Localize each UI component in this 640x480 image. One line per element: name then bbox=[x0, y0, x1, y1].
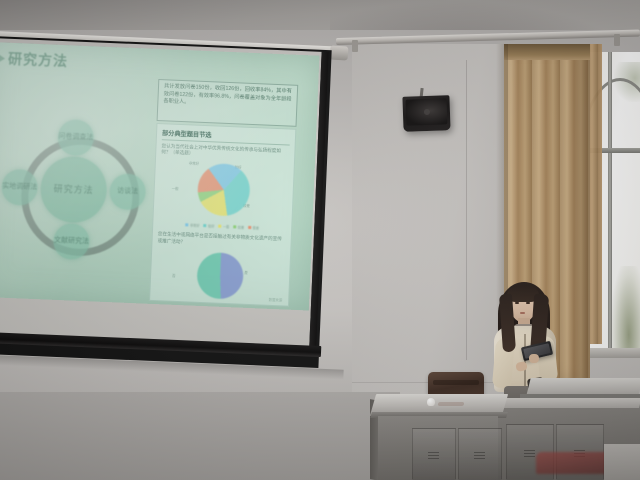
legend-label: 较差 bbox=[238, 225, 245, 230]
legend-label: 很差 bbox=[252, 225, 259, 230]
desk-items bbox=[438, 402, 465, 406]
projected-slide: 研究方法 研究方法 问卷调查法 访谈法 文献研究法 实地调研法 共计发放问卷15… bbox=[0, 42, 319, 311]
legend-item: 较好 bbox=[203, 223, 214, 228]
pie-chart-1 bbox=[197, 163, 251, 217]
research-method-circle-diagram: 研究方法 问卷调查法 访谈法 文献研究法 实地调研法 bbox=[5, 121, 142, 258]
legend-item: 很差 bbox=[248, 225, 259, 230]
legend-label: 一般 bbox=[223, 224, 230, 229]
curtain-rail-bracket bbox=[352, 40, 358, 52]
diagram-node-right: 访谈法 bbox=[109, 173, 146, 210]
slide-title: 研究方法 bbox=[0, 48, 68, 71]
legend-item: 非常好 bbox=[185, 223, 199, 229]
legend-label: 较好 bbox=[208, 224, 215, 229]
window-foliage bbox=[612, 266, 640, 352]
window-sill bbox=[584, 348, 640, 358]
pie2-label-b: 是 bbox=[244, 270, 248, 275]
questions-card-heading: 部分典型题目节选 bbox=[162, 128, 290, 145]
window-vertical-mullion bbox=[608, 52, 612, 352]
legend-item: 一般 bbox=[218, 224, 229, 229]
wall-seam bbox=[466, 60, 467, 360]
eye-left bbox=[515, 302, 519, 304]
survey-stats-textbox: 共计发放问卷150份，收回126份，回收率84%，其中有效问卷122份，有效率9… bbox=[157, 79, 299, 127]
legend-label: 非常好 bbox=[190, 223, 200, 228]
pie1-label-a: 非常好 bbox=[189, 161, 199, 166]
pie-chart-1-block: 非常好 较好 一般 较差 非常好 较好 bbox=[158, 156, 289, 232]
cabinet-vent bbox=[474, 452, 485, 459]
wall-speaker-icon bbox=[402, 95, 450, 132]
cup[interactable] bbox=[427, 398, 435, 406]
curtain-header bbox=[504, 44, 590, 60]
card-footnote: 数据来源 bbox=[269, 297, 283, 303]
curtain-rail-bracket-right bbox=[614, 34, 620, 46]
pie-chart-2 bbox=[196, 252, 244, 300]
pie-chart-2-block: 否 是 bbox=[155, 244, 285, 306]
classroom-scene: 研究方法 研究方法 问卷调查法 访谈法 文献研究法 实地调研法 共计发放问卷15… bbox=[0, 0, 640, 480]
projector-screen: 研究方法 研究方法 问卷调查法 访谈法 文献研究法 实地调研法 共计发放问卷15… bbox=[0, 36, 340, 374]
chair-backrest-slat bbox=[433, 380, 479, 385]
legend-item: 较差 bbox=[233, 225, 244, 230]
mouth bbox=[520, 312, 525, 314]
floor bbox=[0, 392, 400, 480]
pie1-label-c: 一般 bbox=[172, 186, 179, 191]
sample-questions-card: 部分典型题目节选 您认为当代社会上对中华优秀传统文化的传承与弘扬程度如何？（单选… bbox=[149, 123, 296, 307]
hand-right bbox=[529, 354, 539, 363]
floor-right-corner bbox=[604, 444, 640, 480]
arrow-right-icon bbox=[0, 53, 5, 63]
pie-chart-1-legend: 非常好 较好 一般 较差 bbox=[158, 222, 286, 232]
cabinet-vent bbox=[524, 450, 535, 457]
slide-title-text: 研究方法 bbox=[8, 49, 69, 71]
eye-right bbox=[526, 302, 530, 304]
cabinet-vent bbox=[428, 452, 439, 459]
pie2-label-a: 否 bbox=[172, 273, 176, 278]
